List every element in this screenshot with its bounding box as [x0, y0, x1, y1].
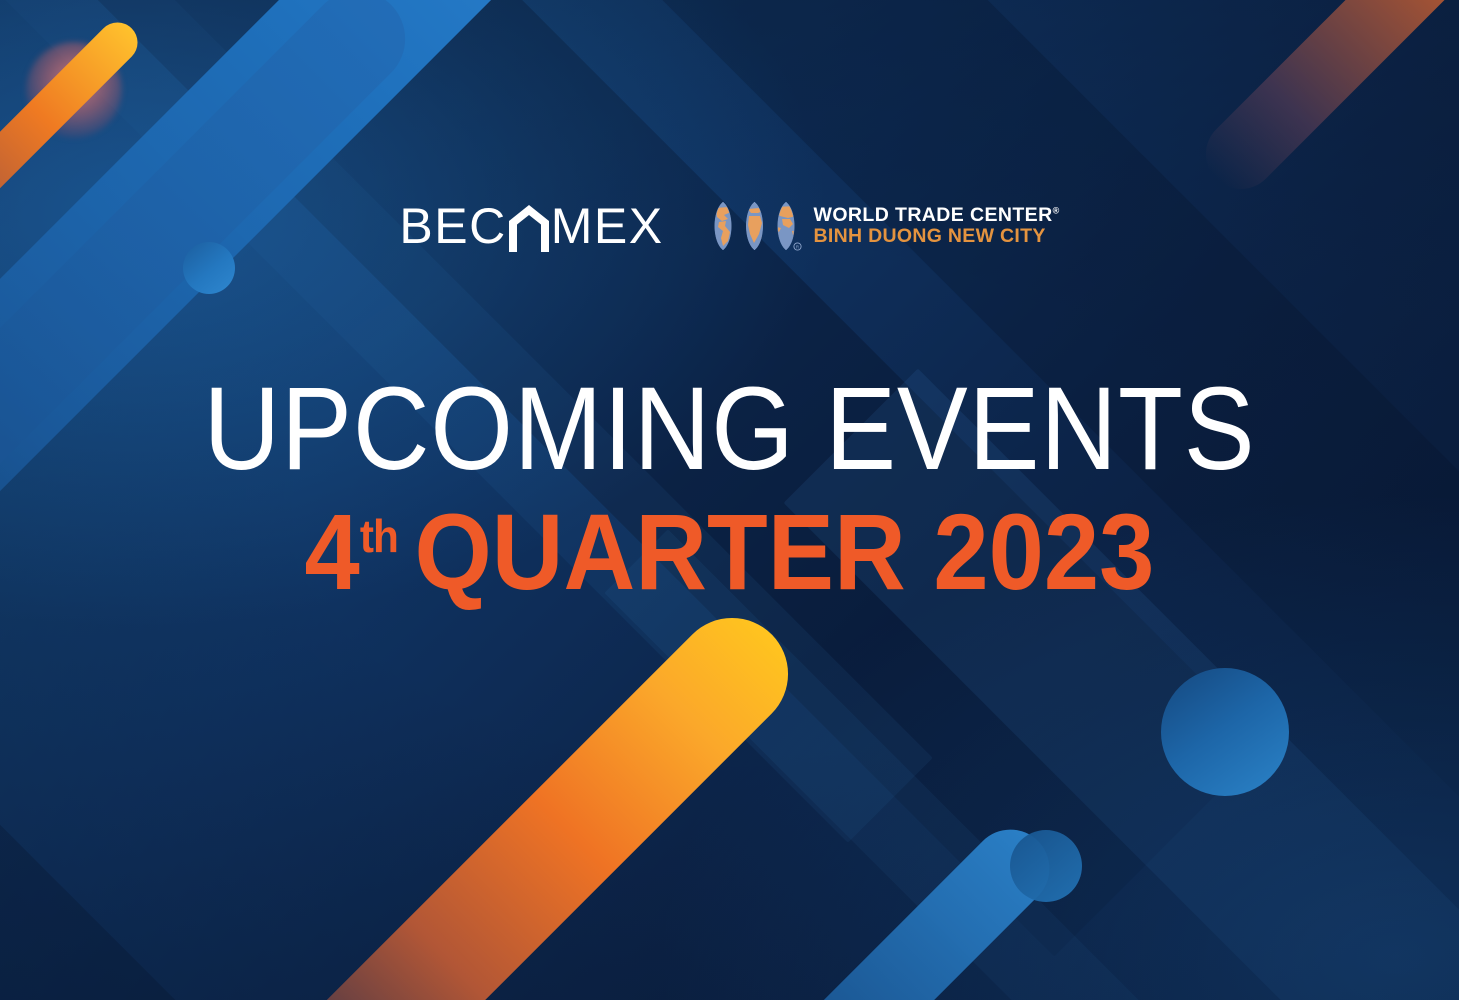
blue-circle-large — [1161, 668, 1289, 796]
becamex-suffix: MEX — [551, 201, 664, 251]
svg-text:R: R — [795, 245, 798, 250]
house-arch-icon — [509, 205, 549, 252]
becamex-prefix: BEC — [399, 201, 506, 251]
world-trade-center-logo: R WORLD TRADE CENTER® BINH DUONG NEW CIT… — [706, 201, 1060, 251]
wtc-line-2: BINH DUONG NEW CITY — [814, 227, 1060, 247]
quarter-label: QUARTER 2023 — [415, 491, 1155, 612]
page-subtitle: 4thQUARTER 2023 — [58, 497, 1400, 607]
wtc-wordmark: WORLD TRADE CENTER® BINH DUONG NEW CITY — [814, 206, 1060, 247]
wtc-line-1: WORLD TRADE CENTER® — [814, 206, 1060, 226]
blue-circle-edge — [1010, 830, 1082, 902]
event-poster: BEC MEX — [0, 0, 1459, 1000]
logo-row: BEC MEX — [0, 196, 1459, 256]
page-title: UPCOMING EVENTS — [73, 368, 1386, 491]
globe-icon: R — [706, 201, 803, 251]
headline-block: UPCOMING EVENTS 4thQUARTER 2023 — [0, 368, 1459, 607]
becamex-logo: BEC MEX — [399, 201, 663, 251]
registered-mark-icon: ® — [1053, 205, 1060, 215]
quarter-number: 4 — [305, 491, 360, 612]
quarter-ordinal: th — [360, 510, 398, 562]
